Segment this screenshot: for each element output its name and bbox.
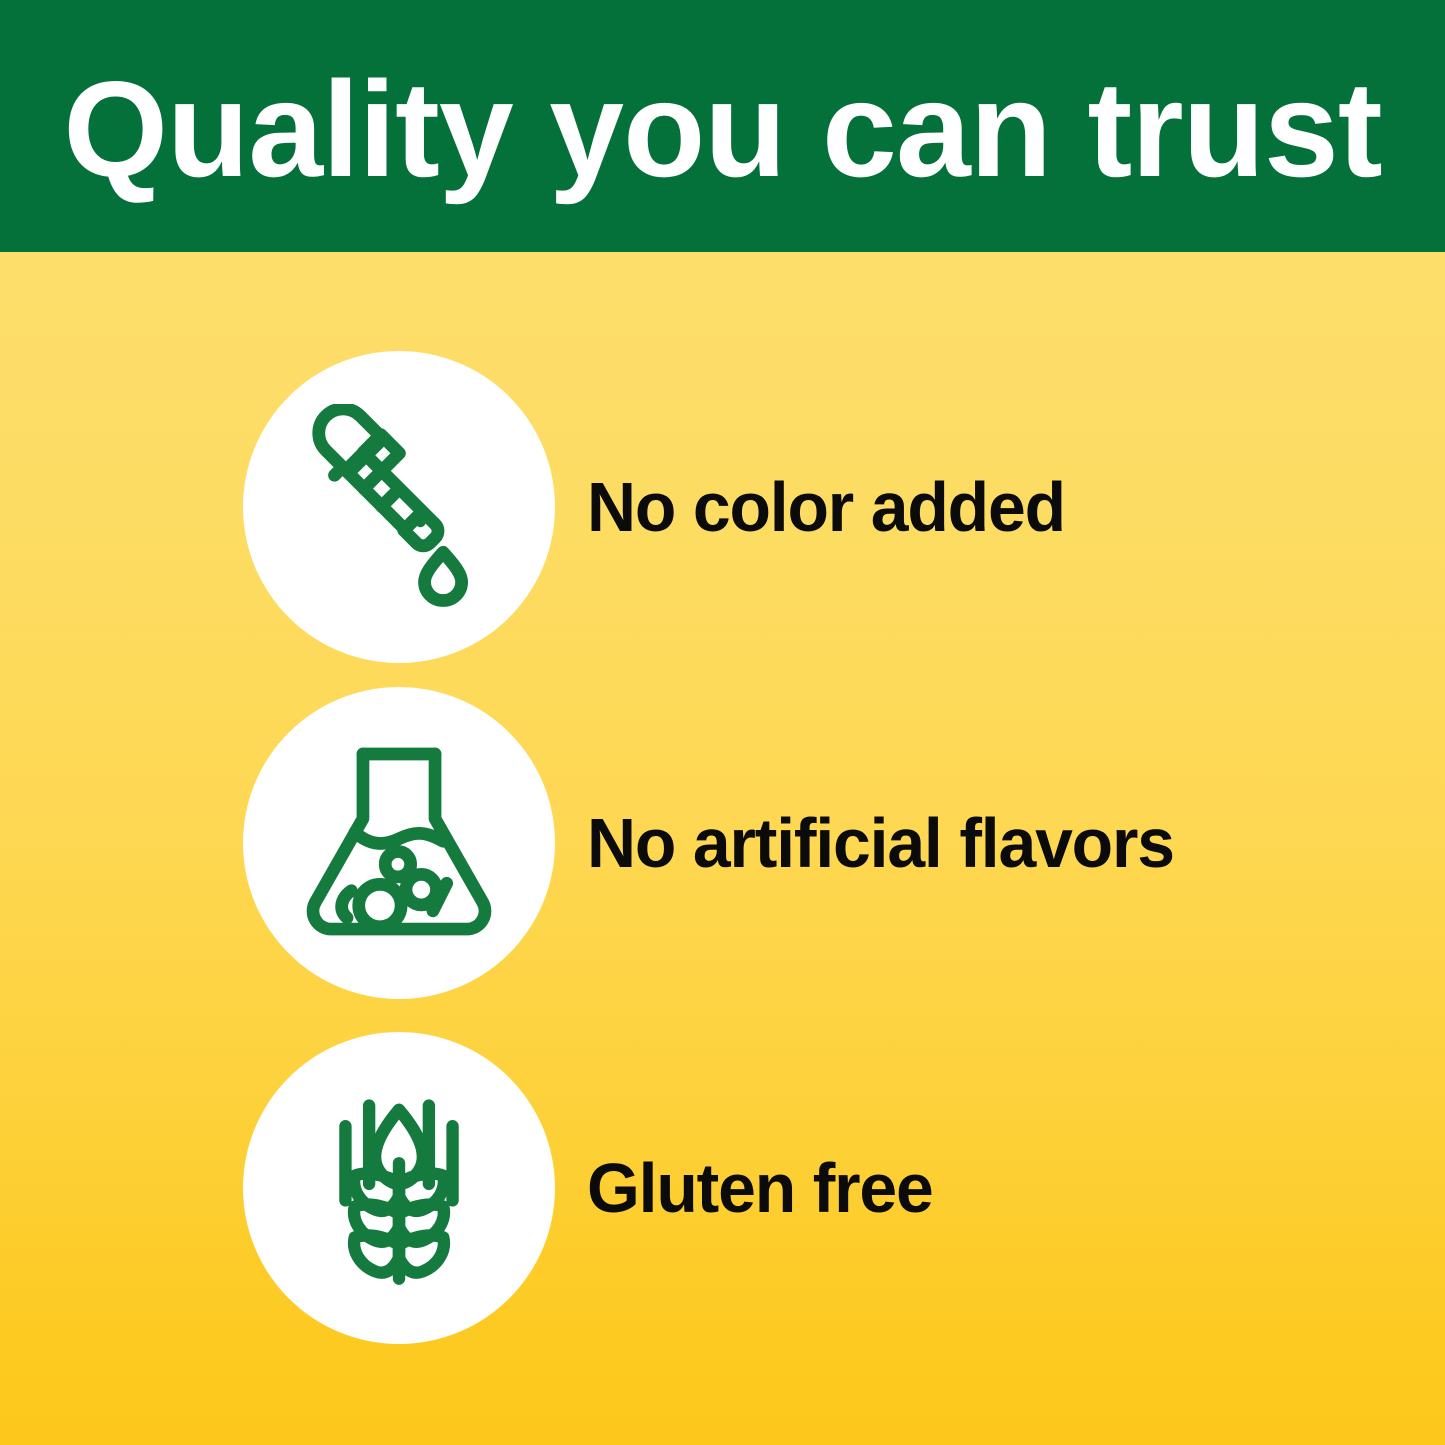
icon-badge <box>243 1032 555 1344</box>
feature-label: Gluten free <box>587 1153 933 1223</box>
header-band: Quality you can trust <box>0 0 1445 252</box>
feature-item-no-color-added: No color added <box>0 351 1445 663</box>
flask-icon <box>293 737 505 949</box>
icon-badge <box>243 687 555 999</box>
page-title: Quality you can trust <box>7 0 1438 252</box>
feature-label: No color added <box>587 472 1065 542</box>
dropper-icon <box>296 404 502 610</box>
quality-badges-poster: Quality you can trust <box>0 0 1445 1445</box>
icon-badge <box>243 351 555 663</box>
feature-item-gluten-free: Gluten free <box>0 1032 1445 1344</box>
feature-item-no-artificial-flavors: No artificial flavors <box>0 687 1445 999</box>
feature-list: No color added <box>0 252 1445 1445</box>
feature-label: No artificial flavors <box>587 808 1174 878</box>
wheat-icon <box>296 1085 502 1291</box>
